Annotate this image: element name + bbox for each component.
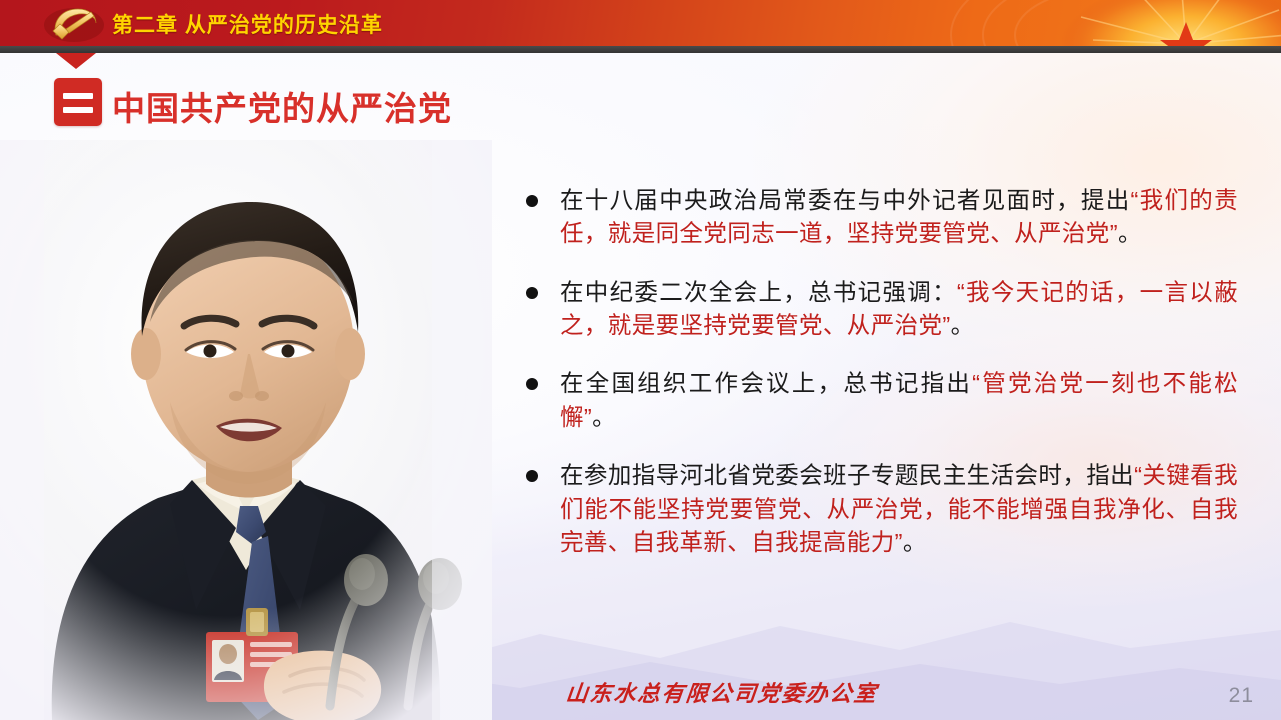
- badge-stroke-bottom: [63, 107, 93, 113]
- bullet-tail-text: 。: [951, 312, 975, 338]
- footer-organization: 山东水总有限公司党委办公室: [564, 676, 879, 708]
- page-number: 21: [1229, 684, 1254, 708]
- speaker-portrait-photo: [0, 140, 492, 720]
- section-number-badge: [54, 78, 102, 126]
- bullet-tail-text: 。: [592, 404, 616, 430]
- badge-stroke-top: [63, 93, 93, 99]
- filled-circle-bullet-icon: [526, 195, 538, 207]
- section-heading: 中国共产党的从严治党: [112, 82, 452, 130]
- bullet-tail-text: 。: [903, 529, 927, 555]
- list-item: 在参加指导河北省党委会班子专题民主生活会时，指出“关键看我们能不能坚持党要管党、…: [524, 459, 1238, 559]
- bullet-lead-text: 在十八届中央政治局常委在与中外记者见面时，提出: [560, 187, 1131, 213]
- filled-circle-bullet-icon: [526, 470, 538, 482]
- bullet-lead-text: 在参加指导河北省党委会班子专题民主生活会时，指出: [560, 462, 1134, 488]
- chapter-header-bar: 第二章 从严治党的历史沿革: [0, 0, 1281, 46]
- list-item: 在中纪委二次全会上，总书记强调：“我今天记的话，一言以蔽之，就是要坚持党要管党、…: [524, 276, 1238, 343]
- bullet-lead-text: 在全国组织工作会议上，总书记指出: [560, 370, 972, 396]
- triangle-down-icon: [56, 53, 96, 69]
- list-item: 在十八届中央政治局常委在与中外记者见面时，提出“我们的责任，就是同全党同志一道，…: [524, 184, 1238, 251]
- party-emblem-icon: [36, 1, 112, 45]
- list-item: 在全国组织工作会议上，总书记指出“管党治党一刻也不能松懈”。: [524, 367, 1238, 434]
- header-ring-decoration: [861, 0, 1191, 46]
- header-divider-bar: [0, 46, 1281, 53]
- chapter-title: 第二章 从严治党的历史沿革: [112, 9, 383, 39]
- bullet-list: 在十八届中央政治局常委在与中外记者见面时，提出“我们的责任，就是同全党同志一道，…: [524, 184, 1238, 559]
- slide-canvas: 第二章 从严治党的历史沿革 中国共产党的从严治党: [0, 0, 1281, 720]
- bullet-lead-text: 在中纪委二次全会上，总书记强调：: [560, 279, 957, 305]
- filled-circle-bullet-icon: [526, 378, 538, 390]
- bullet-tail-text: 。: [1118, 220, 1142, 246]
- filled-circle-bullet-icon: [526, 287, 538, 299]
- red-star-burst-icon: [1021, 0, 1281, 46]
